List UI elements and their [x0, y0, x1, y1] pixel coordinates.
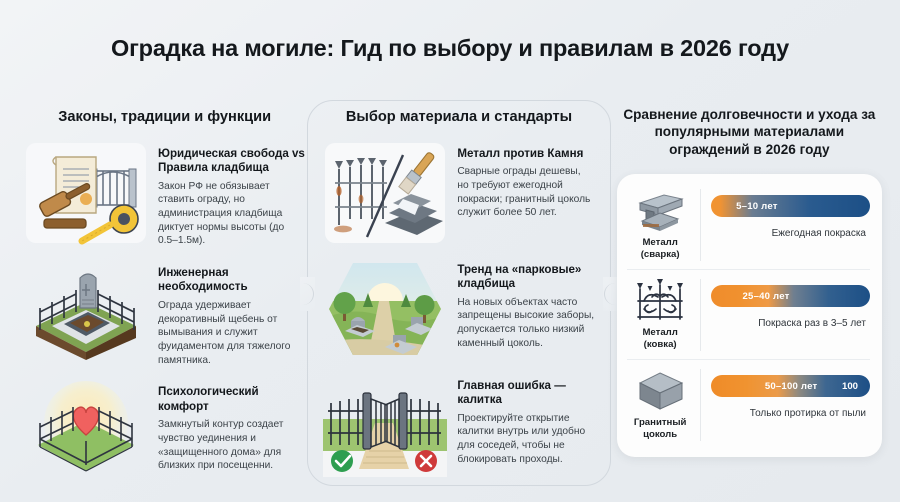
feature-legal-freedom: Юридическая свобода vs Правила кладбища … [24, 141, 305, 248]
chart-row-note: Покраска раз в 3–5 лет [711, 317, 870, 330]
feature-text: Тренд на «парковые» кладбища На новых об… [457, 257, 594, 351]
chart-category-label: Металл (сварка) [627, 237, 694, 261]
chart-row-label: Металл (ковка) [627, 279, 701, 351]
feature-body: На новых объектах часто запрещены высоки… [457, 296, 594, 351]
feature-body: Проектируйте открытие калитки внутрь или… [457, 412, 594, 467]
feature-title: Инженерная необходимость [158, 266, 305, 295]
chart-row-bar-area: 50–100 лет 100 Только протирка от пыли [701, 369, 870, 441]
bar-value-label: 50–100 лет [765, 381, 818, 392]
bar-metal-welded: 5–10 лет [711, 195, 870, 217]
feature-text: Металл против Камня Сварные ограды дешев… [457, 141, 594, 220]
bar-metal-forged: 25–40 лет [711, 285, 870, 307]
heart-fence-icon [24, 379, 148, 483]
chart-row-granite-plinth: Гранитный цоколь 50–100 лет 100 Только п… [627, 360, 870, 449]
gate-open-check-cross-icon [323, 373, 447, 477]
feature-body: Закон РФ не обязывает ставить ограду, но… [158, 180, 305, 248]
feature-engineering-need: Инженерная необходимость Ограда удержива… [24, 260, 305, 367]
chart-row-bar-area: 5–10 лет Ежегодная покраска [701, 189, 870, 261]
granite-block-icon [634, 369, 686, 413]
feature-gate-mistake: Главная ошибка — калитка Проектируйте от… [323, 373, 594, 477]
durability-comparison-chart: Металл (сварка) 5–10 лет Ежегодная покра… [617, 174, 882, 457]
chart-row-metal-forged: Металл (ковка) 25–40 лет Покраска раз в … [627, 270, 870, 360]
chart-row-label: Металл (сварка) [627, 189, 701, 261]
feature-park-cemetery: Тренд на «парковые» кладбища На новых об… [323, 257, 594, 361]
wrought-iron-fence-icon [634, 279, 686, 323]
i-beam-icon [634, 189, 686, 233]
feature-text: Главная ошибка — калитка Проектируйте от… [457, 373, 594, 467]
feature-title: Тренд на «парковые» кладбища [457, 263, 594, 292]
fence-vs-granite-brush-icon [323, 141, 447, 245]
column-middle-heading: Выбор материала и стандарты [323, 96, 594, 141]
chart-category-label: Гранитный цоколь [627, 417, 694, 441]
chart-row-label: Гранитный цоколь [627, 369, 701, 441]
feature-title: Юридическая свобода vs Правила кладбища [158, 147, 305, 176]
chart-row-bar-area: 25–40 лет Покраска раз в 3–5 лет [701, 279, 870, 351]
column-right-heading: Сравнение долговечности и ухода за попул… [617, 96, 882, 172]
chart-category-label: Металл (ковка) [627, 327, 694, 351]
feature-body: Замкнутый контур создает чувство уединен… [158, 418, 305, 473]
feature-metal-vs-stone: Металл против Камня Сварные ограды дешев… [323, 141, 594, 245]
chart-row-note: Ежегодная покраска [711, 227, 870, 240]
column-middle: Выбор материала и стандарты [313, 96, 604, 492]
bar-end-label: 100 [842, 381, 858, 392]
feature-text: Юридическая свобода vs Правила кладбища … [158, 141, 305, 248]
column-left: Законы, традиции и функции [14, 96, 313, 492]
feature-title: Психологический комфорт [158, 385, 305, 414]
feature-title: Главная ошибка — калитка [457, 379, 594, 408]
grave-plot-fence-icon [24, 260, 148, 364]
feature-text: Инженерная необходимость Ограда удержива… [158, 260, 305, 367]
columns-container: Законы, традиции и функции [0, 96, 900, 502]
feature-body: Сварные ограды дешевы, но требуют ежегод… [457, 165, 594, 220]
feature-title: Металл против Камня [457, 147, 594, 161]
park-cemetery-icon [323, 257, 447, 361]
bar-value-label: 25–40 лет [743, 291, 790, 302]
bar-granite-plinth: 50–100 лет 100 [711, 375, 870, 397]
feature-body: Ограда удерживает декоративный щебень от… [158, 299, 305, 367]
infographic-page: Оградка на могиле: Гид по выбору и прави… [0, 0, 900, 502]
feature-psychological-comfort: Психологический комфорт Замкнутый контур… [24, 379, 305, 483]
title-bar: Оградка на могиле: Гид по выбору и прави… [0, 0, 900, 96]
bar-value-label: 5–10 лет [736, 201, 777, 212]
page-title: Оградка на могиле: Гид по выбору и прави… [111, 35, 789, 62]
gavel-scroll-gate-tape-icon [24, 141, 148, 245]
chart-row-metal-welded: Металл (сварка) 5–10 лет Ежегодная покра… [627, 180, 870, 270]
column-left-heading: Законы, традиции и функции [24, 96, 305, 141]
chart-row-note: Только протирка от пыли [711, 407, 870, 420]
feature-text: Психологический комфорт Замкнутый контур… [158, 379, 305, 473]
column-right: Сравнение долговечности и ухода за попул… [605, 96, 886, 492]
